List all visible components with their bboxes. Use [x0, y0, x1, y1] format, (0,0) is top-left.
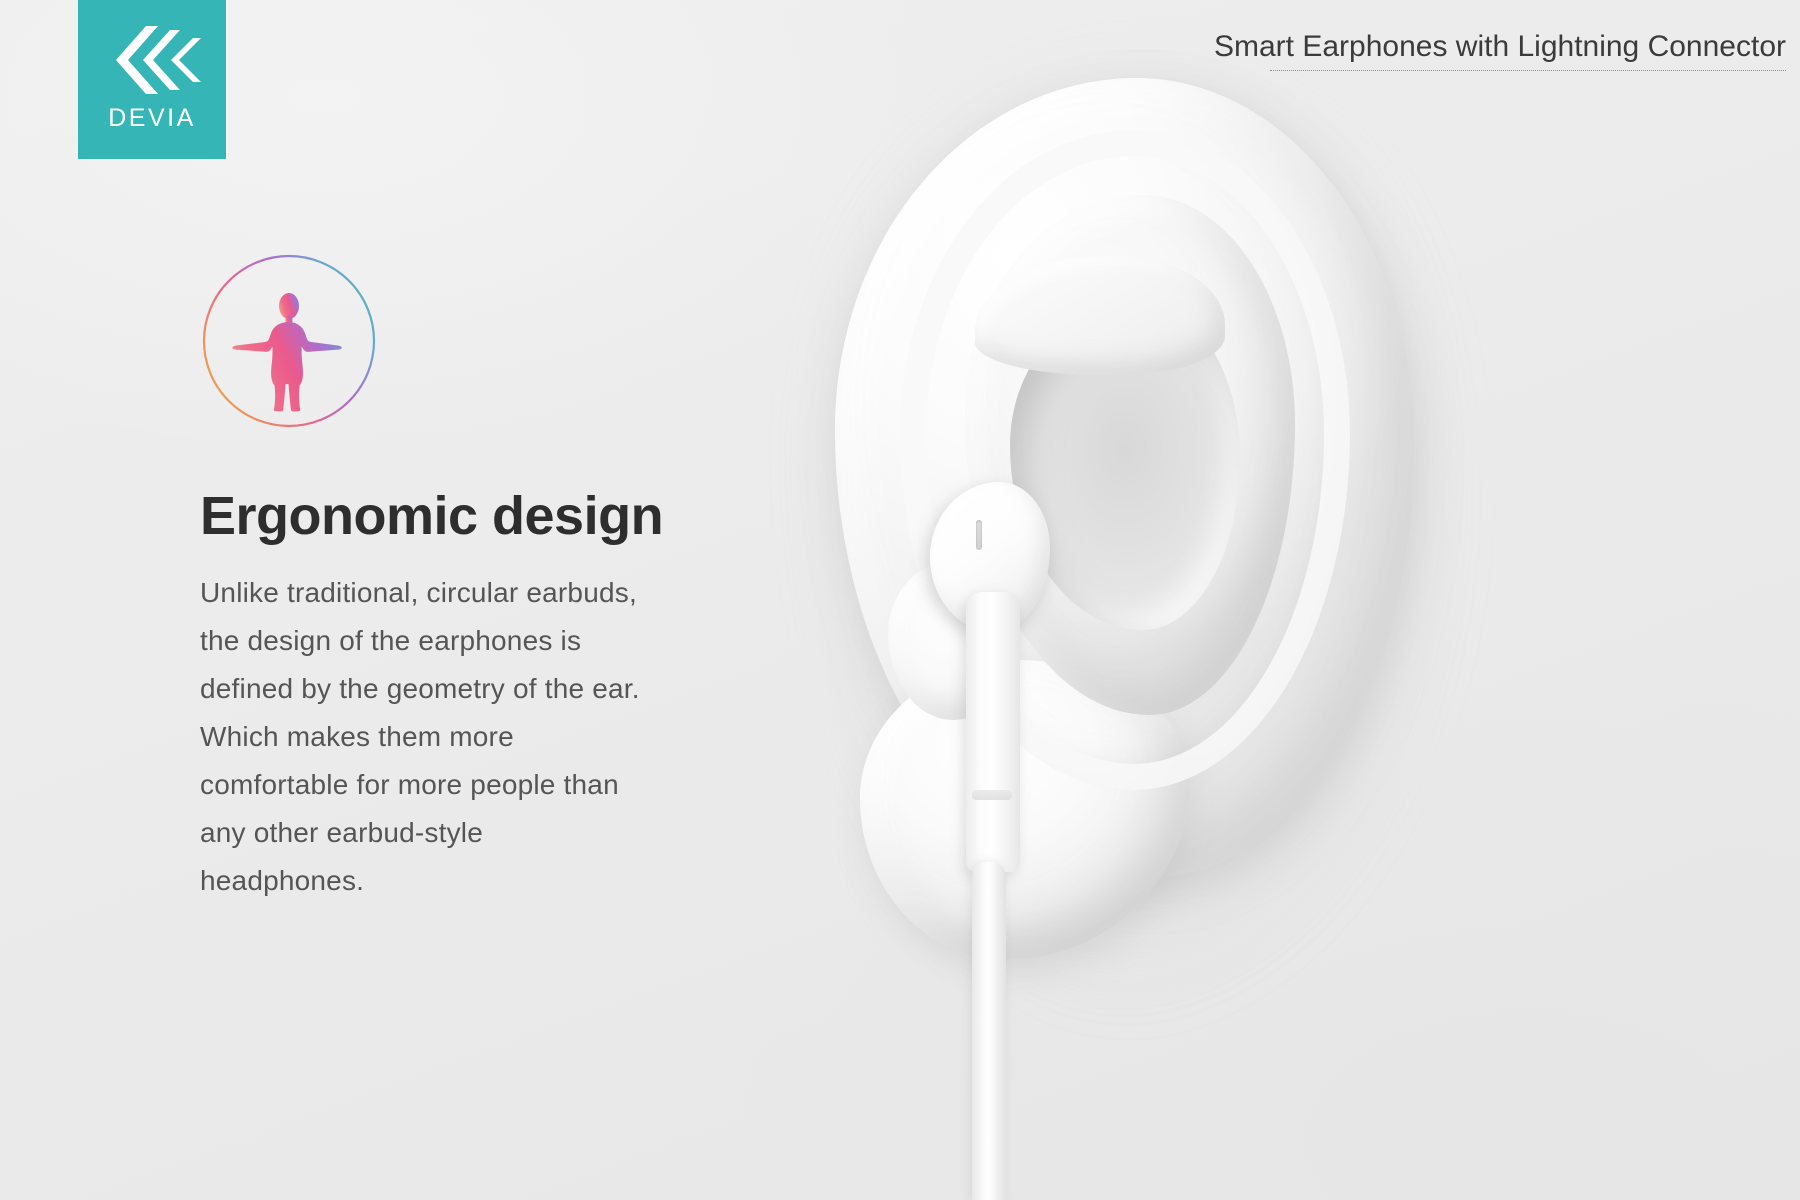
feature-heading: Ergonomic design — [200, 430, 760, 545]
body-line: the design of the earphones is — [200, 617, 760, 665]
body-line: any other earbud-style — [200, 809, 760, 857]
product-feature-page: DEVIA Smart Earphones with Lightning Con… — [0, 0, 1800, 1200]
body-line: Unlike traditional, circular earbuds, — [200, 569, 760, 617]
triple-chevron-left-icon — [100, 22, 204, 98]
earphone-stem — [966, 592, 1020, 872]
earphone-speaker-slot — [976, 520, 982, 550]
feature-body: Unlike traditional, circular earbuds, th… — [200, 545, 760, 905]
ear-with-earphone-photo — [760, 0, 1800, 1200]
feature-block: Ergonomic design Unlike traditional, cir… — [200, 252, 760, 905]
brand-logo: DEVIA — [78, 0, 226, 159]
brand-wordmark: DEVIA — [108, 104, 196, 133]
body-line: comfortable for more people than — [200, 761, 760, 809]
body-line: defined by the geometry of the ear. — [200, 665, 760, 713]
earphone-cable — [972, 862, 1006, 1200]
body-line: Which makes them more — [200, 713, 760, 761]
earphone-stem-band — [972, 790, 1012, 800]
body-line: headphones. — [200, 857, 760, 905]
human-body-in-circle-icon — [200, 252, 378, 430]
